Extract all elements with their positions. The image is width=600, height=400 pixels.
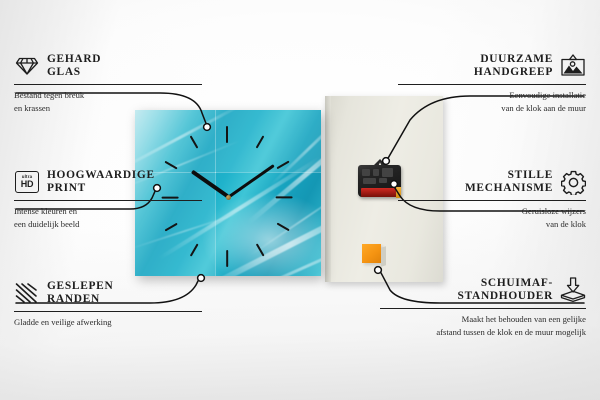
feature-hoogwaardige-print: ultra HD HOOGWAARDIGE PRINT Intense kleu… xyxy=(14,167,202,230)
ultra-hd-badge-main-label: HD xyxy=(21,180,34,189)
foam-spacer-pad xyxy=(362,244,381,263)
clock-center-cap xyxy=(226,195,231,200)
feature-divider xyxy=(398,200,586,201)
foam-spacer-pad-side xyxy=(381,246,386,267)
mechanism-detail xyxy=(379,178,387,183)
press-down-pad-icon xyxy=(560,277,586,303)
diamond-icon xyxy=(14,53,40,79)
feature-header: ultra HD HOOGWAARDIGE PRINT xyxy=(14,167,202,197)
feature-header: DUURZAME HANDGREEP xyxy=(398,51,586,81)
product-feature-infographic: GEHARD GLAS Bestand tegen breuk en krass… xyxy=(0,0,600,400)
gear-icon xyxy=(560,169,586,195)
clock-battery xyxy=(361,188,398,197)
feature-description: Gladde en veilige afwerking xyxy=(14,316,202,328)
glass-reflection-pane xyxy=(215,110,321,173)
feature-header: GEHARD GLAS xyxy=(14,51,202,81)
feature-title: SCHUIMAF- STANDHOUDER xyxy=(458,277,553,303)
feature-header: GESLEPEN RANDEN xyxy=(14,278,202,308)
feature-geslepen-randen: GESLEPEN RANDEN Gladde en veilige afwerk… xyxy=(14,278,202,329)
bevelled-edges-icon xyxy=(14,280,40,306)
feature-header: STILLE MECHANISME xyxy=(398,167,586,197)
clock-tick-6 xyxy=(226,250,228,267)
clock-tick-12 xyxy=(226,126,228,143)
feature-schuimaf-standhouder: SCHUIMAF- STANDHOUDER Maakt het behouden… xyxy=(380,275,586,338)
feature-divider xyxy=(14,84,202,85)
clock-mechanism xyxy=(358,159,401,197)
mechanism-body xyxy=(358,165,401,197)
feature-header: SCHUIMAF- STANDHOUDER xyxy=(380,275,586,305)
feature-divider xyxy=(14,311,202,312)
feature-divider xyxy=(398,84,586,85)
feature-divider xyxy=(380,308,586,309)
back-panel-left-edge xyxy=(325,96,331,282)
clock-tick-4 xyxy=(276,223,289,232)
glass-reflection-pane xyxy=(135,110,216,173)
ultra-hd-badge: ultra HD xyxy=(15,171,39,193)
feature-stille-mechanisme: STILLE MECHANISME Geruisloze wijzers van… xyxy=(398,167,586,230)
feature-gehard-glas: GEHARD GLAS Bestand tegen breuk en krass… xyxy=(14,51,202,114)
feature-description: Bestand tegen breuk en krassen xyxy=(14,89,202,113)
feature-title: HOOGWAARDIGE PRINT xyxy=(47,169,155,195)
feature-divider xyxy=(14,200,202,201)
feature-title: GEHARD GLAS xyxy=(47,53,101,79)
picture-hanger-icon xyxy=(560,53,586,79)
feature-title: STILLE MECHANISME xyxy=(465,169,553,195)
feature-description: Intense kleuren en een duidelijk beeld xyxy=(14,205,202,229)
feature-description: Maakt het behouden van een gelijke afsta… xyxy=(380,313,586,337)
mechanism-detail xyxy=(382,168,393,177)
clock-tick-3 xyxy=(276,196,293,198)
feature-duurzame-handgreep: DUURZAME HANDGREEP Eenvoudige installati… xyxy=(398,51,586,114)
mechanism-detail xyxy=(373,169,379,176)
mechanism-indicator xyxy=(392,181,397,184)
ultra-hd-icon: ultra HD xyxy=(14,169,40,195)
mechanism-detail xyxy=(362,169,370,176)
feature-title: GESLEPEN RANDEN xyxy=(47,280,113,306)
feature-description: Geruisloze wijzers van de klok xyxy=(398,205,586,229)
feature-description: Eenvoudige installatie van de klok aan d… xyxy=(398,89,586,113)
feature-title: DUURZAME HANDGREEP xyxy=(474,53,553,79)
mechanism-detail xyxy=(363,178,376,184)
